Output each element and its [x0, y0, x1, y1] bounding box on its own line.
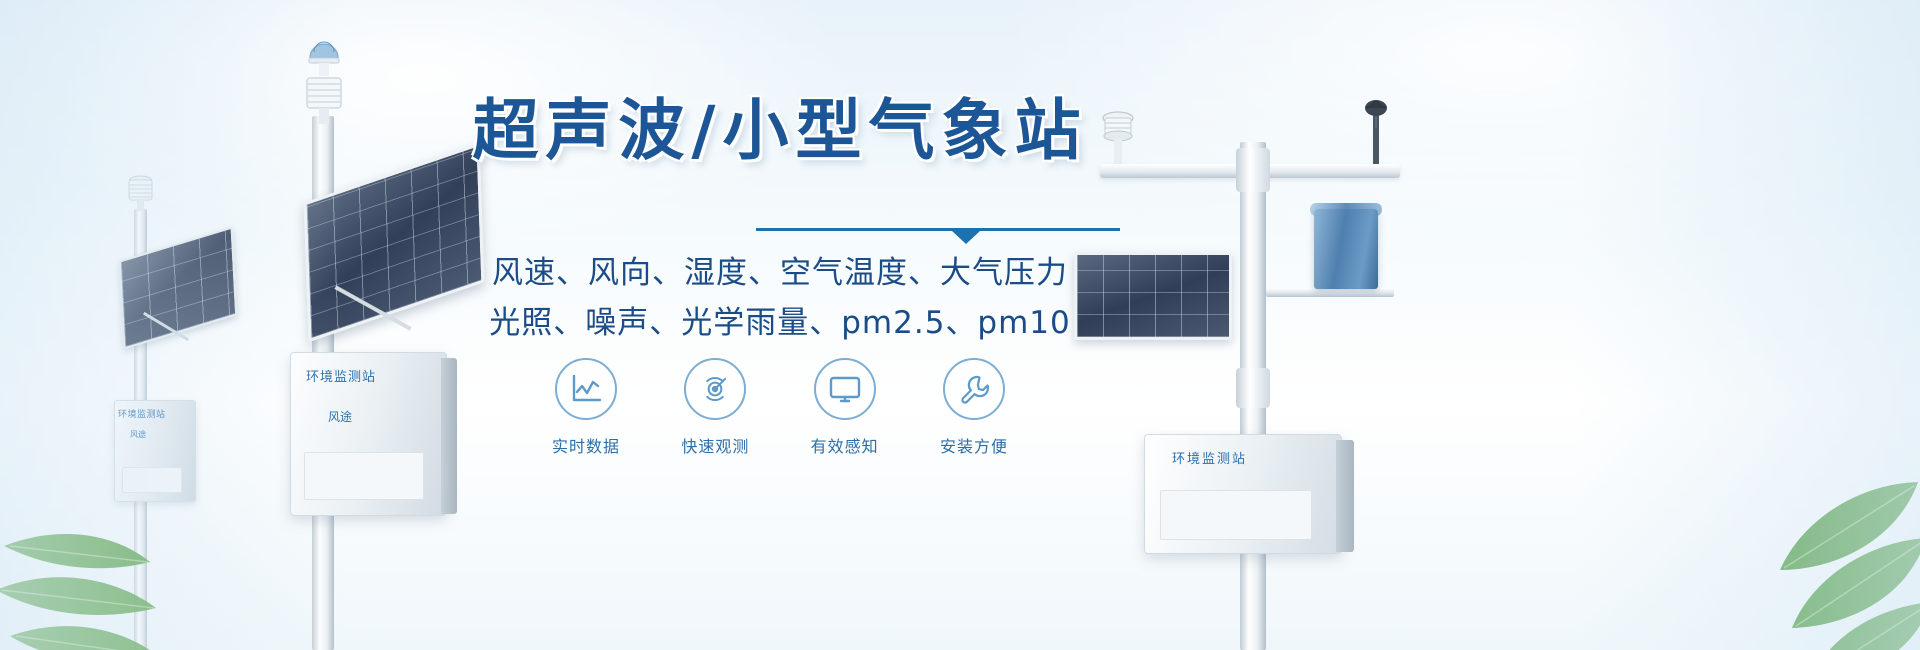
feature-label: 有效感知 [789, 433, 901, 457]
down-triangle-icon [952, 231, 980, 244]
dome-sensor-icon [306, 32, 342, 76]
cabinet-door [304, 452, 424, 500]
rain-gauge [1314, 209, 1378, 289]
sensor-shield-icon [124, 175, 157, 211]
monitor-display-icon [814, 358, 876, 420]
feature-list: 实时数据 [530, 358, 1030, 457]
cabinet-label: 环境监测站 [306, 366, 376, 385]
cabinet-label: 环境监测站 [118, 407, 166, 420]
feature-item-easy-install[interactable]: 安装方便 [918, 358, 1030, 457]
brand-label: 风途 [130, 429, 146, 440]
wind-vane-icon [1356, 98, 1396, 164]
title-divider [756, 222, 1120, 240]
feature-item-fast-observation[interactable]: 快速观测 [659, 358, 771, 457]
instrument-shelf [1266, 288, 1394, 297]
divider-line [756, 228, 1120, 231]
cabinet-door [122, 467, 182, 493]
banner-content: 超声波/小型气象站 风速、风向、湿度、空气温度、大气压力 光照、噪声、光学雨量、… [440, 96, 1120, 516]
cabinet-side [1336, 440, 1354, 552]
mast-collar-mid [1236, 368, 1270, 408]
feature-label: 安装方便 [918, 433, 1030, 457]
subtitle-line-2: 光照、噪声、光学雨量、pm2.5、pm10 [440, 298, 1120, 348]
brand-label: 风途 [328, 408, 352, 425]
page-title: 超声波/小型气象站 [440, 96, 1120, 165]
radiation-shield-icon [302, 76, 346, 124]
wrench-tool-icon [943, 358, 1005, 420]
weather-station-small: 环境监测站 风途 [104, 175, 254, 650]
feature-label: 实时数据 [530, 433, 642, 457]
feature-item-realtime-data[interactable]: 实时数据 [530, 358, 642, 457]
subtitle-line-1: 风速、风向、湿度、空气温度、大气压力 [440, 248, 1120, 298]
cabinet-door [1160, 490, 1312, 540]
radar-signal-icon [684, 358, 746, 420]
mast-collar-top [1236, 148, 1270, 192]
tropical-leaf-right-icon [1662, 420, 1920, 650]
feature-item-effective-sensing[interactable]: 有效感知 [789, 358, 901, 457]
subtitle-block: 风速、风向、湿度、空气温度、大气压力 光照、噪声、光学雨量、pm2.5、pm10 [440, 248, 1120, 348]
weather-station-large: 环境监测站 [1060, 52, 1480, 650]
feature-label: 快速观测 [659, 433, 771, 457]
cabinet-label: 环境监测站 [1172, 448, 1247, 467]
product-banner: 环境监测站 风途 环境监测站 风途 [0, 0, 1920, 650]
line-chart-icon [555, 358, 617, 420]
